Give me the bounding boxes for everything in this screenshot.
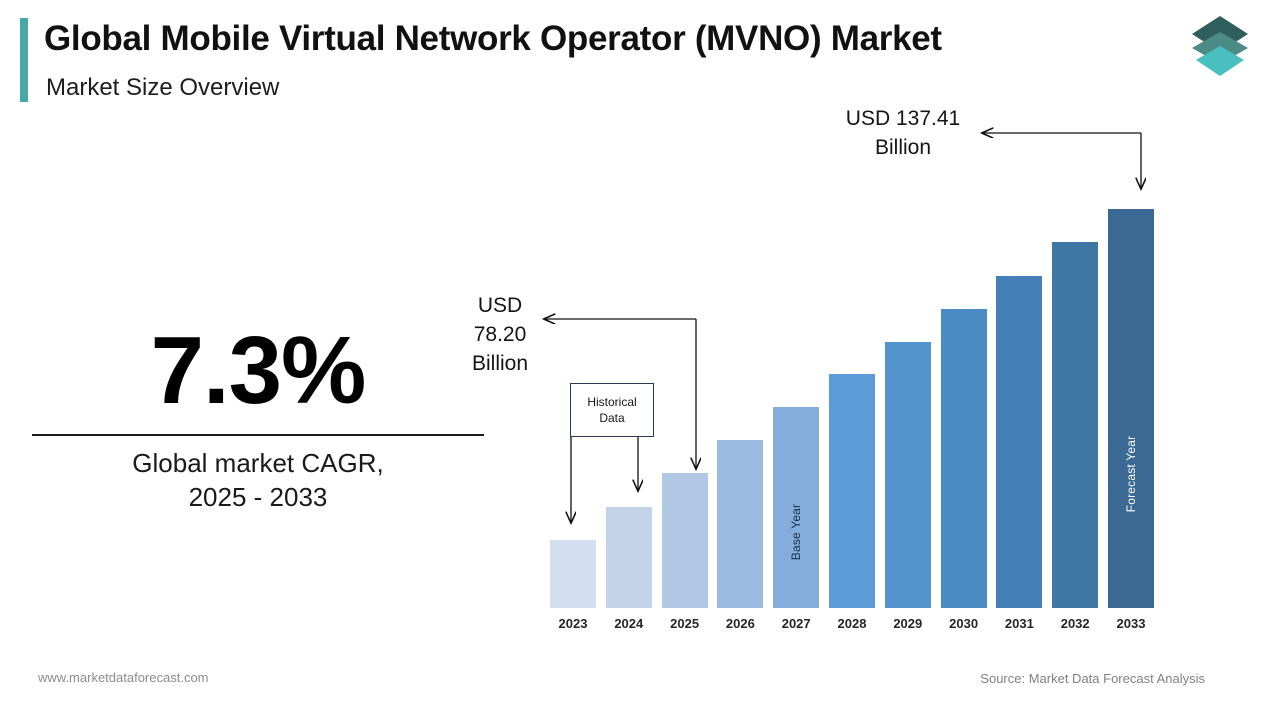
forecast-value-line-2: Billion bbox=[806, 133, 1000, 162]
x-axis-tick-2026: 2026 bbox=[717, 616, 763, 631]
bar-2029[interactable] bbox=[885, 342, 931, 608]
x-axis-tick-2023: 2023 bbox=[550, 616, 596, 631]
forecast-value-line-1: USD 137.41 bbox=[806, 104, 1000, 133]
x-axis-tick-2024: 2024 bbox=[606, 616, 652, 631]
bar-2027[interactable]: Base Year bbox=[773, 407, 819, 608]
bar-2023[interactable] bbox=[550, 540, 596, 608]
base-value-line-2: 78.20 bbox=[430, 320, 570, 349]
base-value-line-3: Billion bbox=[430, 349, 570, 378]
x-axis-tick-2027: 2027 bbox=[773, 616, 819, 631]
bar-2033[interactable]: Forecast Year bbox=[1108, 209, 1154, 608]
x-axis-tick-2031: 2031 bbox=[996, 616, 1042, 631]
forecast-year-bar-label: Forecast Year bbox=[1124, 436, 1138, 513]
bar-2026[interactable] bbox=[717, 440, 763, 608]
bar-2025[interactable] bbox=[662, 473, 708, 608]
x-axis-tick-2030: 2030 bbox=[941, 616, 987, 631]
bar-2024[interactable] bbox=[606, 507, 652, 608]
base-value-line-1: USD bbox=[430, 291, 570, 320]
historical-data-line-1: Historical bbox=[571, 394, 653, 410]
x-axis-tick-2025: 2025 bbox=[662, 616, 708, 631]
base-value-annotation: USD 78.20 Billion bbox=[430, 291, 570, 378]
x-axis-tick-2029: 2029 bbox=[885, 616, 931, 631]
forecast-value-annotation: USD 137.41 Billion bbox=[806, 104, 1000, 162]
base-year-bar-label: Base Year bbox=[789, 504, 803, 561]
bar-2028[interactable] bbox=[829, 374, 875, 608]
footer-source: Source: Market Data Forecast Analysis bbox=[980, 671, 1205, 686]
bar-chart: 2023202420252026Base Year202720282029203… bbox=[0, 0, 1280, 720]
x-axis-tick-2028: 2028 bbox=[829, 616, 875, 631]
historical-data-line-2: Data bbox=[571, 410, 653, 426]
bar-2030[interactable] bbox=[941, 309, 987, 608]
x-axis-tick-2033: 2033 bbox=[1108, 616, 1154, 631]
bar-2032[interactable] bbox=[1052, 242, 1098, 608]
footer-website[interactable]: www.marketdataforecast.com bbox=[38, 670, 209, 685]
bar-2031[interactable] bbox=[996, 276, 1042, 608]
historical-data-callout: Historical Data bbox=[570, 383, 654, 437]
x-axis-tick-2032: 2032 bbox=[1052, 616, 1098, 631]
